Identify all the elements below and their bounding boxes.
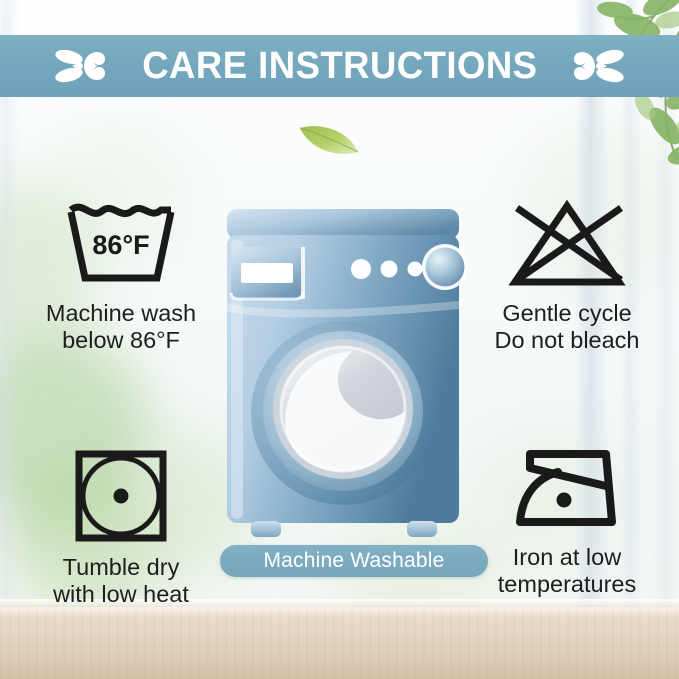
- care-item-label: Machine wash below 86°F: [14, 300, 228, 355]
- care-item-iron-low: Iron at low temperatures: [464, 446, 670, 599]
- washer-foot-left: [251, 521, 281, 537]
- iron-symbol-wrapper: [464, 446, 670, 536]
- washer-foot-right: [407, 521, 437, 537]
- care-item-tumble-dry: Tumble dry with low heat: [14, 446, 228, 609]
- wash-temperature-value: 86°F: [92, 230, 149, 260]
- care-item-label: Iron at low temperatures: [464, 544, 670, 599]
- indicator-light-3: [408, 262, 423, 277]
- machine-washable-badge: Machine Washable: [220, 545, 488, 577]
- iron-heat-dot: [557, 493, 572, 508]
- wash-tub-symbol-wrapper: 86°F: [14, 196, 228, 292]
- care-item-machine-wash: 86°F Machine wash below 86°F: [14, 196, 228, 355]
- tumble-dry-symbol-wrapper: [14, 446, 228, 546]
- detergent-drawer-slot: [241, 263, 293, 283]
- do-not-bleach-symbol-wrapper: [464, 196, 670, 292]
- care-item-gentle-cycle-no-bleach: Gentle cycle Do not bleach: [464, 196, 670, 355]
- machine-washable-badge-label: Machine Washable: [263, 549, 444, 573]
- indicator-light-1: [351, 259, 371, 279]
- washer-top-lid: [227, 209, 459, 239]
- wash-tub-icon: 86°F: [59, 196, 183, 292]
- tumble-dry-low-icon: [69, 446, 173, 546]
- dry-heat-dot: [114, 489, 129, 504]
- control-knob[interactable]: [426, 248, 465, 287]
- washing-machine-illustration: [215, 205, 471, 540]
- indicator-light-2: [381, 261, 398, 278]
- care-item-label: Gentle cycle Do not bleach: [464, 300, 670, 355]
- care-item-label: Tumble dry with low heat: [14, 554, 228, 609]
- do-not-bleach-triangle-icon: [501, 196, 633, 292]
- iron-low-temperature-icon: [506, 446, 628, 536]
